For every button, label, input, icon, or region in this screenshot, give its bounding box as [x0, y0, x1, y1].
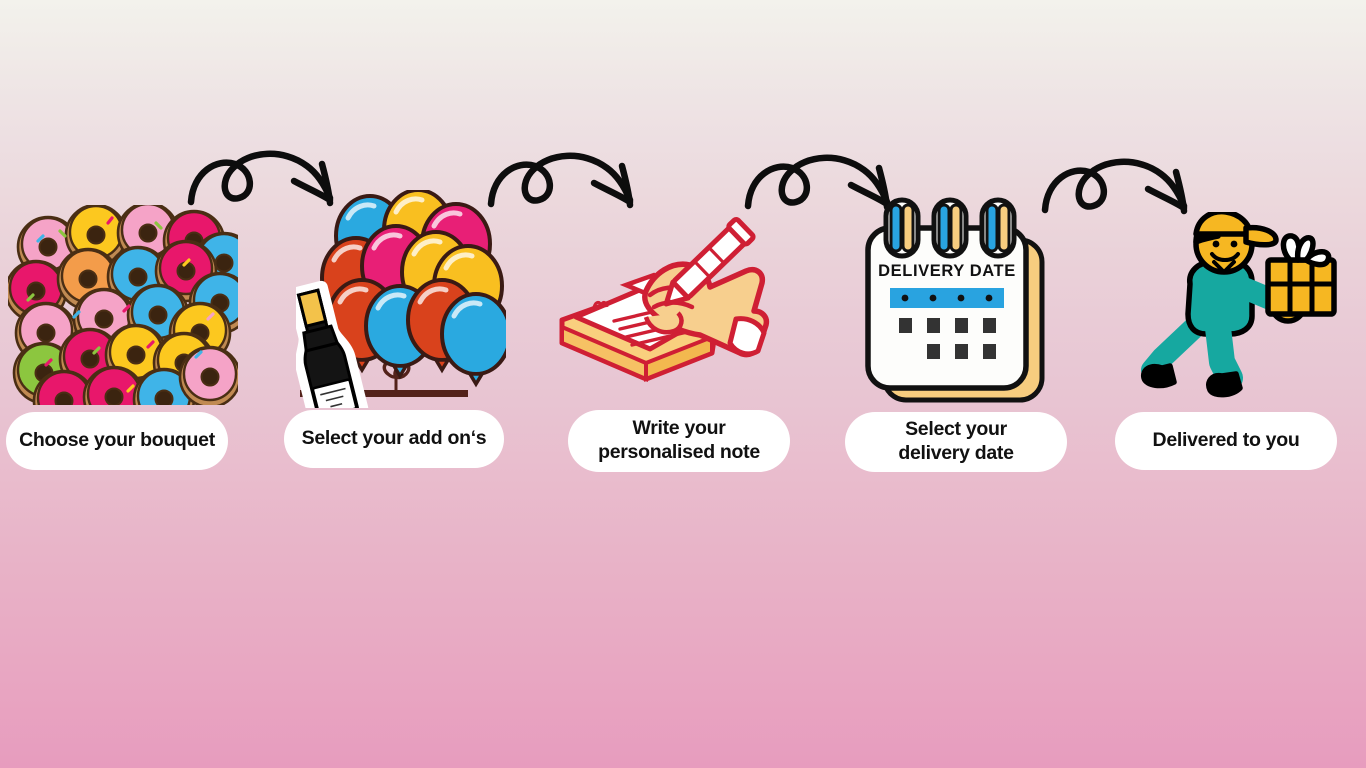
- step-label-select-delivery-date[interactable]: Select your delivery date: [845, 412, 1067, 472]
- step-label-delivered-to-you[interactable]: Delivered to you: [1115, 412, 1337, 470]
- step-label-text: Delivered to you: [1153, 429, 1300, 453]
- arrow-step2-to-step3-icon: [483, 138, 648, 218]
- donut-bouquet-icon: [8, 205, 238, 405]
- step-label-text-line1: Write your: [598, 417, 760, 441]
- balloons-champagne-icon: [296, 190, 506, 408]
- delivery-person-icon: [1140, 212, 1340, 407]
- step-label-choose-bouquet[interactable]: Choose your bouquet: [6, 412, 228, 470]
- calendar-heading: DELIVERY DATE: [878, 262, 1016, 280]
- step-label-text-line2: delivery date: [898, 442, 1013, 466]
- step-label-text-line1: Select your: [898, 418, 1013, 442]
- hand-writing-note-icon: [550, 215, 780, 395]
- step-label-select-add-ons[interactable]: Select your add on‘s: [284, 410, 504, 468]
- step-label-text: Select your add on‘s: [302, 427, 487, 451]
- step-label-write-note[interactable]: Write your personalised note: [568, 410, 790, 472]
- step-label-text-line2: personalised note: [598, 441, 760, 465]
- step-label-text: Choose your bouquet: [19, 429, 215, 453]
- how-it-works-section: DELIVERY DATE: [0, 0, 1366, 768]
- calendar-icon: DELIVERY DATE: [858, 196, 1058, 404]
